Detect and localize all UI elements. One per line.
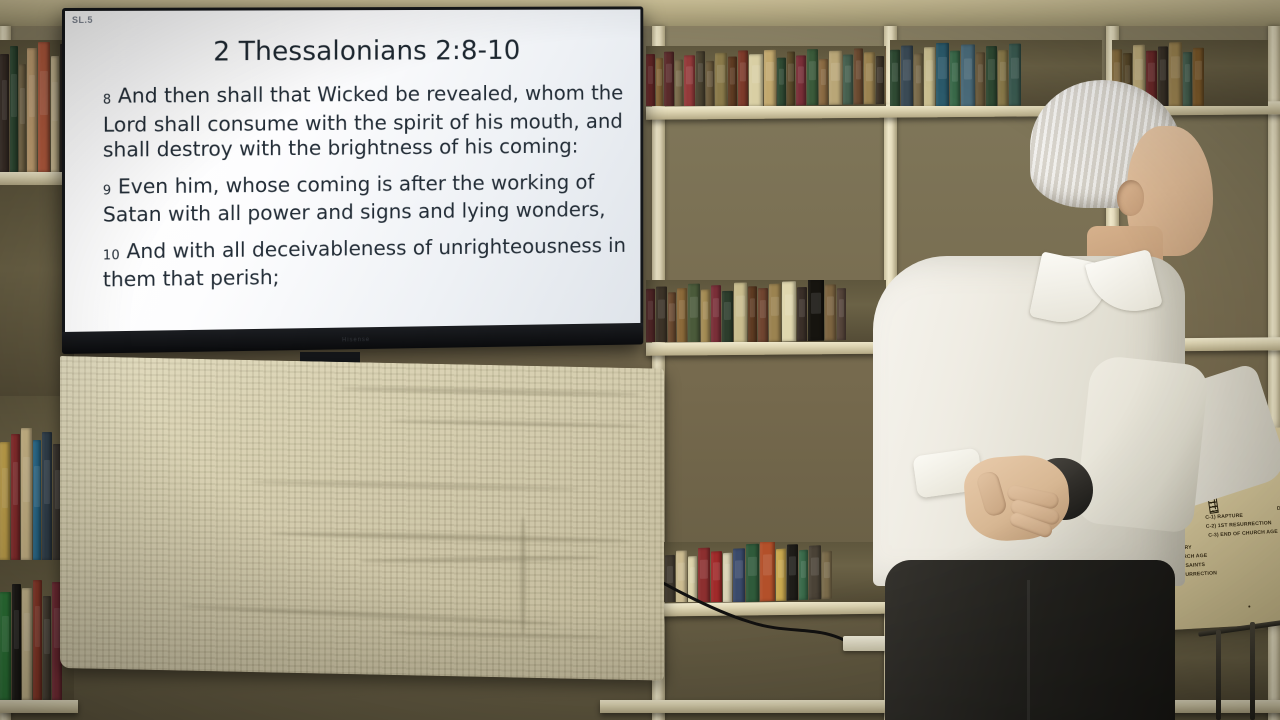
presentation-slide[interactable]: SL.5 2 Thessalonians 2:8-10 8 And then s… <box>65 9 640 332</box>
book-spine <box>748 286 757 342</box>
book-spine <box>646 54 655 106</box>
book-spine <box>11 434 20 560</box>
book-spine <box>684 55 695 106</box>
book-spine <box>764 50 776 106</box>
book-spine <box>738 50 748 106</box>
book-spine <box>656 58 663 106</box>
book-spine <box>776 549 786 601</box>
thumb <box>975 470 1008 518</box>
cloth-fold <box>180 604 560 627</box>
book-spine <box>38 42 50 172</box>
book-row <box>646 46 886 106</box>
book-spine <box>22 588 32 700</box>
shelf-bay <box>646 46 886 106</box>
book-spine <box>837 288 846 340</box>
book-spine <box>27 48 37 172</box>
speaker-person <box>855 60 1185 720</box>
book-spine <box>799 550 808 600</box>
book-spine <box>12 584 21 700</box>
book-spine <box>749 54 763 106</box>
book-spine <box>807 49 818 105</box>
book-spine <box>0 54 9 172</box>
speaker-ear <box>1117 180 1144 216</box>
verse-number: 8 <box>103 93 112 108</box>
book-spine <box>808 280 824 341</box>
chair-rail <box>1198 612 1280 720</box>
television: SL.5 2 Thessalonians 2:8-10 8 And then s… <box>62 6 643 354</box>
book-spine <box>769 284 781 342</box>
book-spine <box>819 59 828 105</box>
book-spine <box>701 289 710 342</box>
book-spine <box>656 286 667 342</box>
cloth-fold <box>520 516 526 636</box>
rail-bar <box>1216 630 1221 720</box>
chart-label-1st-res: C-2) 1ST RESURRECTION <box>1206 520 1272 530</box>
book-spine <box>758 288 768 342</box>
pants-seam <box>1027 580 1030 720</box>
verse-number: 9 <box>103 183 112 198</box>
cloth-fold <box>360 555 600 563</box>
chart-label-rapture: C-1) RAPTURE <box>1205 513 1243 521</box>
book-spine <box>760 542 775 602</box>
book-spine <box>51 56 59 172</box>
book-spine <box>33 580 42 700</box>
verse-line: 9 Even him, whose coming is after the wo… <box>103 169 627 228</box>
book-row <box>646 280 886 342</box>
speaker-arm <box>1075 354 1210 533</box>
book-spine <box>843 54 853 104</box>
book-spine <box>829 51 842 105</box>
book-spine <box>825 284 836 340</box>
book-spine <box>19 64 26 172</box>
cloth-fold <box>390 631 610 640</box>
slide-title: 2 Thessalonians 2:8-10 <box>103 35 627 68</box>
book-spine <box>21 428 32 560</box>
book-spine <box>675 59 683 106</box>
book-spine <box>42 432 52 560</box>
cloth-fold <box>390 419 640 428</box>
book-spine <box>711 285 721 342</box>
book-spine <box>698 548 710 602</box>
book-spine <box>734 282 747 342</box>
speaker-pants <box>885 560 1175 720</box>
verse-number: 10 <box>103 248 120 263</box>
book-spine <box>668 292 676 342</box>
book-spine <box>688 556 697 602</box>
book-spine <box>728 57 737 106</box>
book-spine <box>688 284 700 342</box>
verse-line: 10 And with all deceivableness of unrigh… <box>103 233 627 293</box>
book-spine <box>664 52 674 106</box>
book-spine <box>715 53 727 106</box>
verse-line: 8 And then shall that Wicked be revealed… <box>103 81 627 163</box>
book-spine <box>797 287 807 341</box>
book-spine <box>0 442 10 560</box>
book-spine <box>782 281 796 341</box>
book-spine <box>646 289 655 342</box>
screenshot-root: SL.5 2 Thessalonians 2:8-10 8 And then s… <box>0 0 1280 720</box>
cloth-fold <box>250 480 580 491</box>
book-spine <box>0 592 11 700</box>
book-spine <box>677 288 687 342</box>
book-spine <box>711 551 722 602</box>
book-spine <box>696 51 705 106</box>
chart-label-end-church: C-3) END OF CHURCH AGE <box>1208 529 1278 539</box>
book-spine <box>33 440 41 560</box>
book-spine <box>706 61 714 106</box>
book-spine <box>796 55 806 105</box>
verse-text: And then shall that Wicked be revealed, … <box>103 81 623 162</box>
book-spine <box>665 555 675 602</box>
book-spine <box>733 548 745 602</box>
shelf-bay <box>646 280 886 342</box>
book-spine <box>722 291 733 342</box>
book-spine <box>746 544 759 602</box>
tv-brand-logo: Hisense <box>342 337 370 343</box>
rail-bar <box>1250 622 1255 720</box>
book-spine <box>10 46 18 172</box>
book-spine <box>777 58 786 106</box>
verse-text: Even him, whose coming is after the work… <box>103 170 606 227</box>
cloth-fold <box>270 530 630 544</box>
book-spine <box>1193 48 1204 106</box>
book-spine <box>822 551 832 599</box>
rail-bar <box>1198 620 1280 637</box>
slide-number-tag: SL.5 <box>72 15 93 25</box>
book-spine <box>676 550 687 602</box>
book-spine <box>723 553 732 602</box>
cloth-fold <box>340 386 640 397</box>
shelf-board <box>0 700 78 713</box>
book-spine <box>43 596 51 700</box>
book-spine <box>809 545 821 599</box>
table-cloth <box>60 356 664 681</box>
verse-text: And with all deceivableness of unrighteo… <box>103 233 626 292</box>
book-spine <box>787 544 798 600</box>
book-spine <box>787 51 795 105</box>
tv-bezel: SL.5 2 Thessalonians 2:8-10 8 And then s… <box>65 9 640 332</box>
chart-pin <box>1248 605 1250 607</box>
